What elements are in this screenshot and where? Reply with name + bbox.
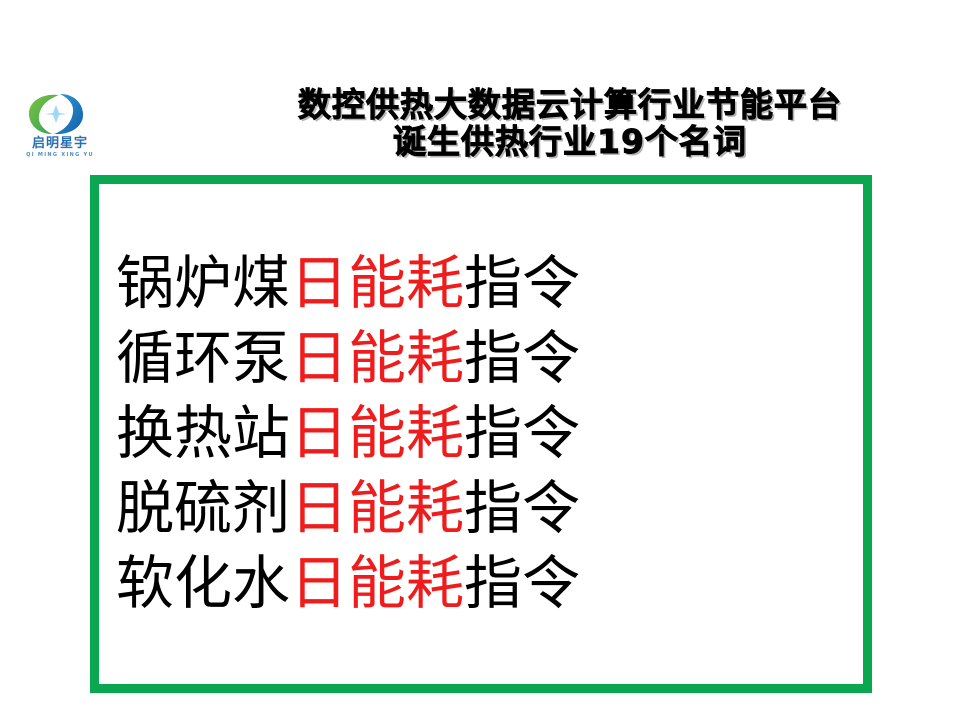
terms-list: 锅炉煤日能耗指令 循环泵日能耗指令 换热站日能耗指令 脱硫剂日能耗指令 软化水日…: [116, 246, 846, 621]
term-highlight: 日能耗: [290, 249, 464, 317]
term-suffix: 指令: [464, 399, 580, 467]
company-logo: 启明星宇 QI MING XING YU: [14, 92, 106, 170]
term-prefix: 软化水: [116, 549, 290, 617]
list-item: 软化水日能耗指令: [116, 546, 846, 621]
term-prefix: 循环泵: [116, 324, 290, 392]
logo-company-name-pinyin: QI MING XING YU: [14, 152, 106, 159]
term-suffix: 指令: [464, 249, 580, 317]
term-highlight: 日能耗: [290, 474, 464, 542]
term-suffix: 指令: [464, 474, 580, 542]
list-item: 锅炉煤日能耗指令: [116, 246, 846, 321]
term-suffix: 指令: [464, 324, 580, 392]
term-prefix: 锅炉煤: [116, 249, 290, 317]
logo-company-name-cn: 启明星宇: [14, 136, 106, 151]
slide-title: 数控供热大数据云计算行业节能平台 诞生供热行业19个名词: [200, 86, 940, 160]
term-highlight: 日能耗: [290, 549, 464, 617]
title-line-2: 诞生供热行业19个名词: [200, 123, 940, 160]
term-highlight: 日能耗: [290, 324, 464, 392]
term-prefix: 换热站: [116, 399, 290, 467]
list-item: 换热站日能耗指令: [116, 396, 846, 471]
list-item: 循环泵日能耗指令: [116, 321, 846, 396]
term-prefix: 脱硫剂: [116, 474, 290, 542]
qimingxingyu-swoosh-star-icon: [26, 92, 86, 136]
list-item: 脱硫剂日能耗指令: [116, 471, 846, 546]
terms-content-box: 锅炉煤日能耗指令 循环泵日能耗指令 换热站日能耗指令 脱硫剂日能耗指令 软化水日…: [90, 175, 872, 693]
term-suffix: 指令: [464, 549, 580, 617]
title-line-1: 数控供热大数据云计算行业节能平台: [200, 86, 940, 123]
term-highlight: 日能耗: [290, 399, 464, 467]
